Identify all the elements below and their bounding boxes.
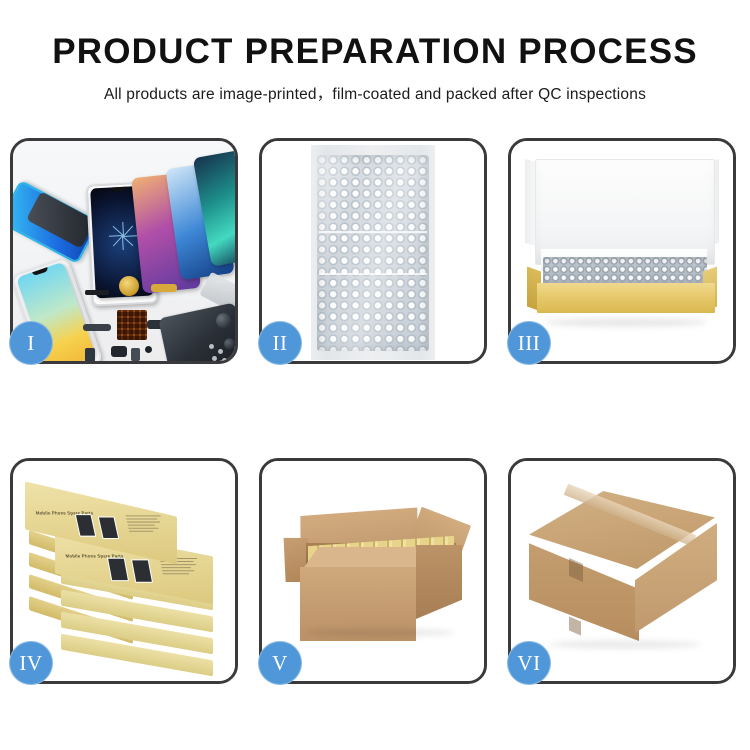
camera-module-part	[85, 348, 95, 361]
bubble-wrap-seam	[319, 231, 427, 233]
box-phone-swatch	[107, 558, 129, 581]
battery-connector-part	[131, 348, 140, 361]
screen-crack-graphic	[107, 220, 139, 252]
box-front-kraft	[537, 283, 715, 313]
camera-lens-icon	[215, 312, 233, 330]
carton-seam-mark	[569, 616, 581, 635]
carton-shadow	[549, 640, 701, 649]
step-badge-1: I	[9, 321, 53, 365]
step-panel-5: V	[259, 458, 487, 684]
box-phone-swatch	[98, 516, 120, 539]
box-stack: Mobile Phone Spare Parts Mobile Phone Sp…	[21, 485, 233, 665]
step-panel-6: VI	[508, 458, 736, 684]
earpiece-part	[111, 346, 127, 357]
step-panel-1: I	[10, 138, 238, 364]
product-preparation-infographic: PRODUCT PREPARATION PROCESS All products…	[0, 0, 750, 750]
steps-grid: I II	[10, 138, 740, 684]
bubble-wrap-gloss	[317, 155, 429, 351]
step-badge-5: V	[258, 641, 302, 685]
carton-side-right	[416, 545, 462, 619]
header: PRODUCT PREPARATION PROCESS All products…	[0, 0, 750, 104]
box-phone-swatch	[131, 559, 153, 582]
box-shadow	[545, 318, 707, 327]
flex-cable-gold-part	[151, 284, 177, 292]
chip-grid-part	[117, 310, 147, 340]
bubble-wrap-seam	[319, 273, 427, 275]
page-subtitle: All products are image-printed，film-coat…	[0, 82, 750, 104]
phone-fan-group	[13, 141, 235, 269]
notch-icon	[111, 187, 127, 192]
page-title: PRODUCT PREPARATION PROCESS	[0, 34, 750, 71]
vibration-motor-part	[119, 276, 139, 296]
sealed-carton	[525, 485, 721, 653]
step-badge-4: IV	[9, 641, 53, 685]
step-panel-2: II	[259, 138, 487, 364]
camera-lens-icon	[223, 337, 235, 350]
open-carton	[278, 491, 468, 651]
step-badge-6: VI	[507, 641, 551, 685]
phone-back-housing-part	[158, 302, 235, 361]
carton-shadow	[304, 628, 454, 637]
speaker-mesh-part	[85, 290, 109, 295]
box-spec-lines	[125, 515, 168, 533]
box-phone-swatch	[75, 514, 97, 537]
home-button-part	[145, 346, 152, 353]
step-badge-2: II	[258, 321, 302, 365]
step-badge-3: III	[507, 321, 551, 365]
step-panel-3: III	[508, 138, 736, 364]
flex-cable-gray-part	[83, 324, 111, 331]
step-panel-4: Mobile Phone Spare Parts Mobile Phone Sp…	[10, 458, 238, 684]
